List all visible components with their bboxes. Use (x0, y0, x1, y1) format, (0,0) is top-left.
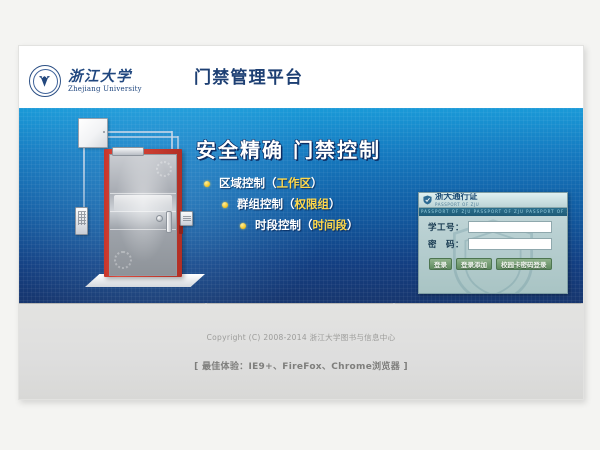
bullet-text-end: ） (329, 195, 341, 214)
field-row-password: 密 码： (428, 238, 567, 250)
bullet-text: 区域控制（ (219, 174, 277, 193)
list-item: 时段控制（ 时间段 ） (204, 216, 424, 235)
footer-copyright: Copyright (C) 2008-2014 浙江大学图书与信息中心 (19, 332, 583, 343)
university-logo[interactable]: 浙江大学 Zhejiang University (29, 65, 142, 97)
bullet-highlight: 权限组 (295, 195, 330, 214)
security-door (104, 149, 182, 277)
card-reader-icon (180, 211, 193, 226)
password-input[interactable] (468, 238, 552, 250)
feature-bullet-list: 区域控制（ 工作区 ） 群组控制（ 权限组 ） 时段控制（ 时间段 ） (204, 174, 424, 237)
login-title-en: PASSPORT OF ZJU (435, 202, 479, 207)
bullet-text: 时段控制（ (255, 216, 313, 235)
login-add-button[interactable]: 登录添加 (456, 258, 492, 270)
cable-controller-top (106, 131, 172, 133)
door-closer (112, 147, 144, 156)
footer-browser-note: [ 最佳体验：IE9+、FireFox、Chrome浏览器 ] (19, 359, 583, 372)
list-item: 区域控制（ 工作区 ） (204, 174, 424, 193)
shield-icon (423, 195, 432, 205)
login-panel-header: 浙大通行证 PASSPORT OF ZJU (419, 193, 567, 208)
userid-label: 学工号： (428, 221, 468, 233)
login-button-row: 登录 登录添加 校园卡密码登录 (429, 258, 567, 270)
field-row-userid: 学工号： (428, 221, 567, 233)
bullet-dot-icon (222, 202, 228, 208)
bullet-highlight: 工作区 (277, 174, 312, 193)
app-root: 浙江大学 Zhejiang University 门禁管理平台 (0, 0, 600, 450)
password-label: 密 码： (428, 238, 468, 250)
logo-text-cn: 浙江大学 (68, 69, 142, 84)
bullet-dot-icon (240, 223, 246, 229)
page-title: 门禁管理平台 (194, 66, 303, 90)
bullet-highlight: 时间段 (313, 216, 348, 235)
door-leaf (109, 154, 177, 276)
door-knob (156, 215, 163, 222)
userid-input[interactable] (468, 221, 552, 233)
login-button[interactable]: 登录 (429, 258, 452, 270)
bullet-text-end: ） (311, 174, 323, 193)
page-card: 浙江大学 Zhejiang University 门禁管理平台 (18, 45, 584, 400)
access-controller-box-icon (78, 118, 108, 148)
login-form: 学工号： 密 码： 登录 登录添加 校园卡密码登录 (419, 216, 567, 270)
zju-seal-icon (29, 65, 61, 97)
site-footer: Copyright (C) 2008-2014 浙江大学图书与信息中心 [ 最佳… (19, 303, 583, 400)
bullet-text: 群组控制（ (237, 195, 295, 214)
login-panel: 浙大通行证 PASSPORT OF ZJU PASSPORT OF ZJU PA… (418, 192, 568, 294)
hero-banner: 安全精确 门禁控制 区域控制（ 工作区 ） 群组控制（ 权限组 ） 时段控制（ (19, 108, 583, 303)
banner-headline: 安全精确 门禁控制 (196, 137, 381, 163)
cable-controller-top-2 (106, 136, 178, 138)
access-control-illustration (47, 114, 207, 294)
campus-card-login-button[interactable]: 校园卡密码登录 (496, 258, 552, 270)
login-title-cn: 浙大通行证 (435, 193, 479, 202)
door-handle (166, 211, 172, 233)
electric-strike (179, 225, 183, 234)
keypad-reader-icon (75, 207, 88, 235)
cable-controller-to-keypad (83, 146, 85, 207)
site-header: 浙江大学 Zhejiang University 门禁管理平台 (19, 46, 583, 108)
bullet-dot-icon (204, 181, 210, 187)
passport-watermark-strip: PASSPORT OF ZJU PASSPORT OF ZJU PASSPORT… (419, 208, 567, 216)
footer-divider (19, 303, 583, 306)
bullet-text-end: ） (347, 216, 359, 235)
logo-text-en: Zhejiang University (68, 85, 142, 94)
list-item: 群组控制（ 权限组 ） (204, 195, 424, 214)
